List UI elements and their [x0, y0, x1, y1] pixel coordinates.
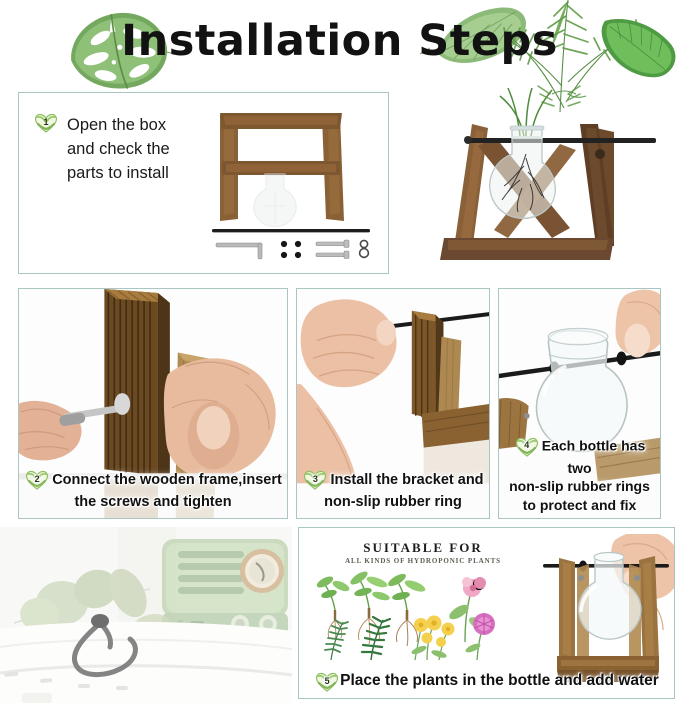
hydroponic-plants-illustration — [315, 568, 527, 663]
step-2-caption: 2 Connect the wooden frame,insert the sc… — [19, 468, 287, 512]
page-title: Installation Steps — [0, 16, 679, 66]
infographic-root: Installation Steps — [0, 0, 679, 703]
step-2-line-2: the screws and tighten — [22, 492, 284, 512]
step-4-panel: 4 Each bottle has two non-slip rubber ri… — [498, 288, 661, 519]
step-3-caption: 3 Install the bracket and non-slip rubbe… — [297, 468, 489, 512]
fern-frond-icon — [74, 268, 179, 274]
step-5-badge: 5 — [314, 670, 340, 692]
step-4-badge: 4 — [514, 435, 540, 457]
hero-product-image — [400, 88, 668, 273]
step-2-panel: 2 Connect the wooden frame,insert the sc… — [18, 288, 288, 519]
step-4-line-2: non-slip rubber rings — [502, 477, 657, 496]
step-3-badge: 3 — [302, 468, 328, 490]
step-4-number: 4 — [514, 435, 540, 457]
step-2-line-1: Connect the wooden frame,insert — [52, 472, 282, 488]
step-5-line-1: Place the plants in the bottle and add w… — [340, 672, 659, 689]
step-4-caption: 4 Each bottle has two non-slip rubber ri… — [499, 435, 660, 515]
step-3-line-2: non-slip rubber ring — [300, 492, 486, 512]
step-2-number: 2 — [24, 468, 50, 490]
step-5-caption: 5 Place the plants in the bottle and add… — [299, 670, 674, 692]
step-1-panel: 1 Open the box and check the parts to in… — [18, 92, 389, 274]
suitable-for-subheading: ALL KINDS OF HYDROPONIC PLANTS — [323, 557, 523, 565]
step-5-panel: SUITABLE FOR ALL KINDS OF HYDROPONIC PLA… — [298, 527, 675, 699]
step-5-number: 5 — [314, 670, 340, 692]
step-1-text: Open the box and check the parts to inst… — [67, 113, 217, 185]
step-2-badge: 2 — [24, 468, 50, 490]
step-1-number: 1 — [33, 111, 59, 133]
step-4-line-1: Each bottle has two — [542, 437, 645, 475]
step-1-badge: 1 — [33, 111, 59, 133]
step-3-panel: 3 Install the bracket and non-slip rubbe… — [296, 288, 490, 519]
step-3-line-1: Install the bracket and — [330, 472, 483, 488]
step-1-line-3: parts to install — [67, 161, 217, 185]
suitable-for-heading: SUITABLE FOR — [323, 540, 523, 556]
step-4-line-3: to protect and fix — [502, 496, 657, 515]
step-1-parts-illustration — [204, 103, 379, 268]
step-1-line-1: Open the box — [67, 113, 217, 137]
lifestyle-photo — [0, 527, 292, 703]
step-3-number: 3 — [302, 468, 328, 490]
step-1-line-2: and check the — [67, 137, 217, 161]
